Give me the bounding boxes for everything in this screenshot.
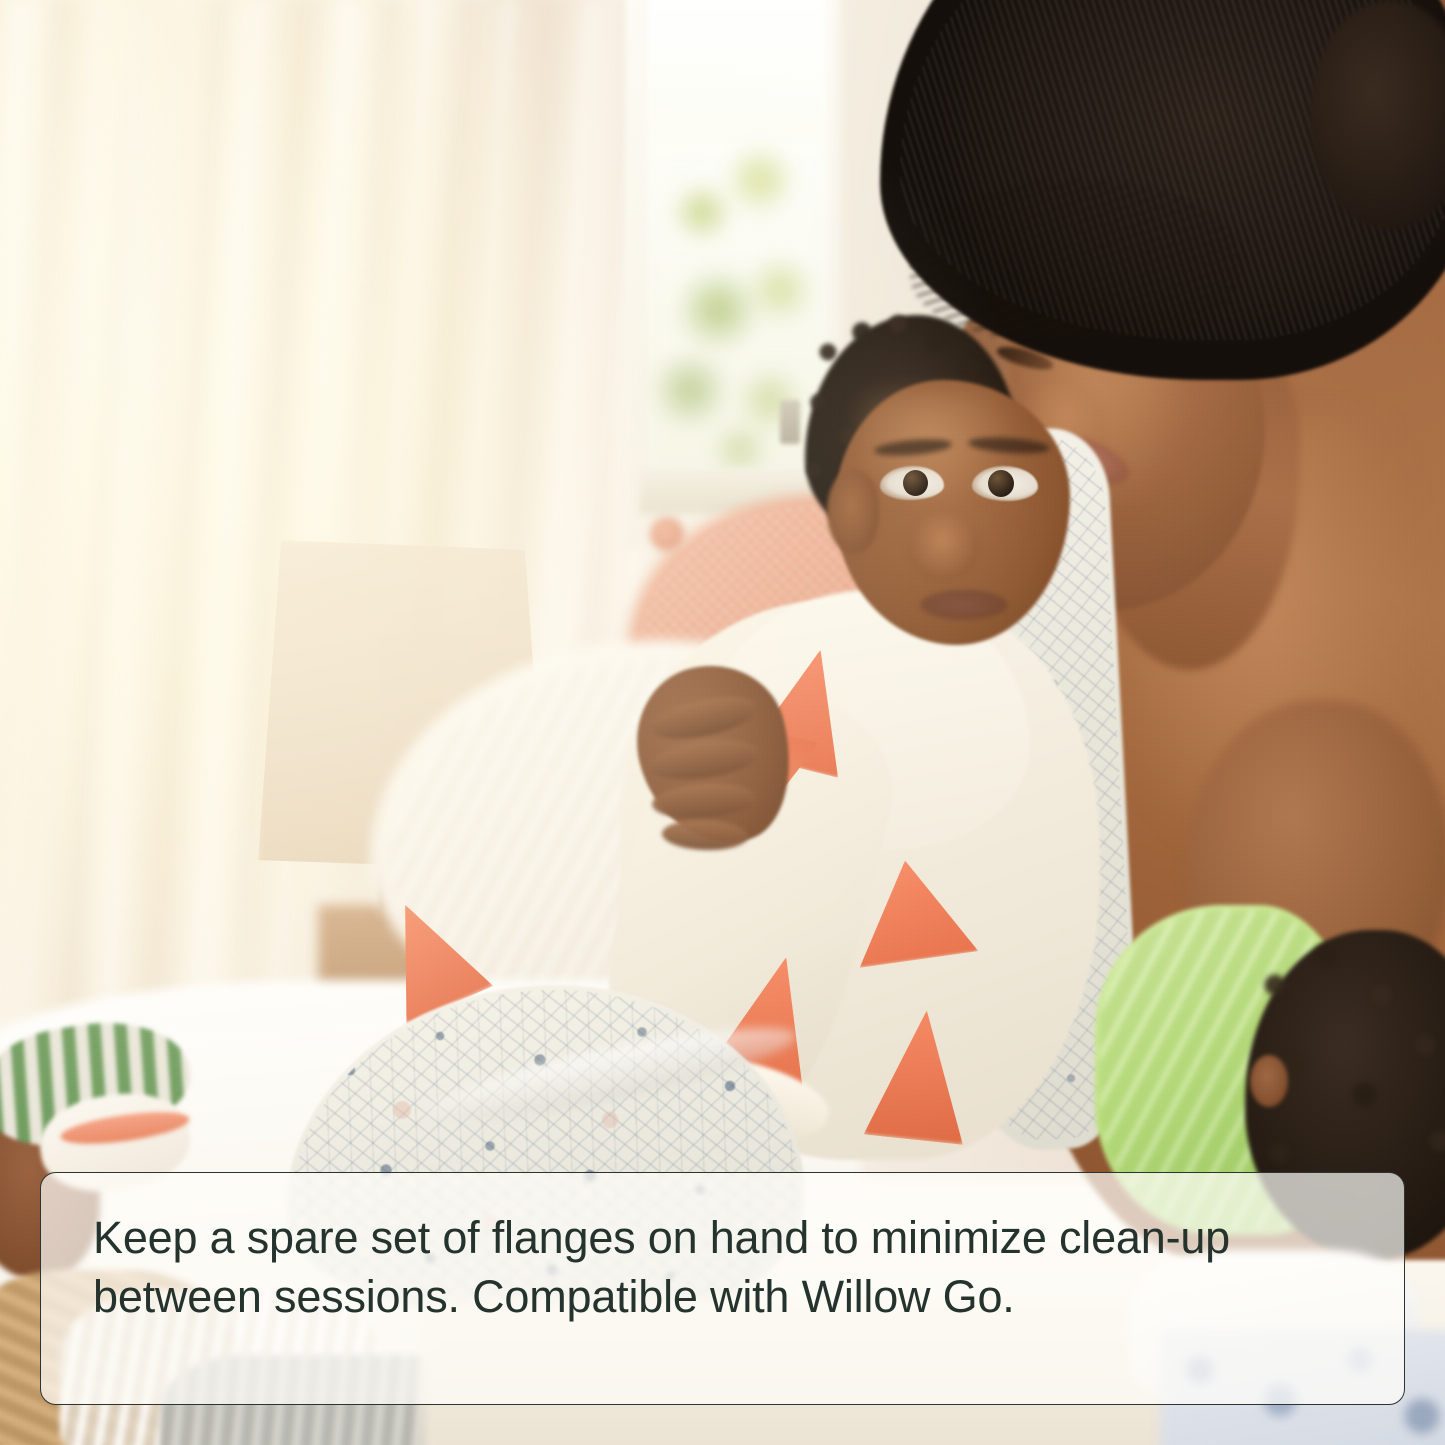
nursing-infant-ear <box>1250 1055 1288 1107</box>
toddler-ear <box>827 470 879 554</box>
window-latch <box>780 400 800 444</box>
toddler-pupil-left <box>903 470 928 496</box>
toddler-nose <box>908 512 980 582</box>
product-lifestyle-image: Keep a spare set of flanges on hand to m… <box>0 0 1445 1445</box>
caption-panel: Keep a spare set of flanges on hand to m… <box>40 1172 1405 1405</box>
toddler-mouth <box>920 590 1008 620</box>
toddler-pupil-right <box>988 470 1014 497</box>
caption-text: Keep a spare set of flanges on hand to m… <box>93 1209 1360 1326</box>
coral-pillow-tassel <box>650 517 684 551</box>
